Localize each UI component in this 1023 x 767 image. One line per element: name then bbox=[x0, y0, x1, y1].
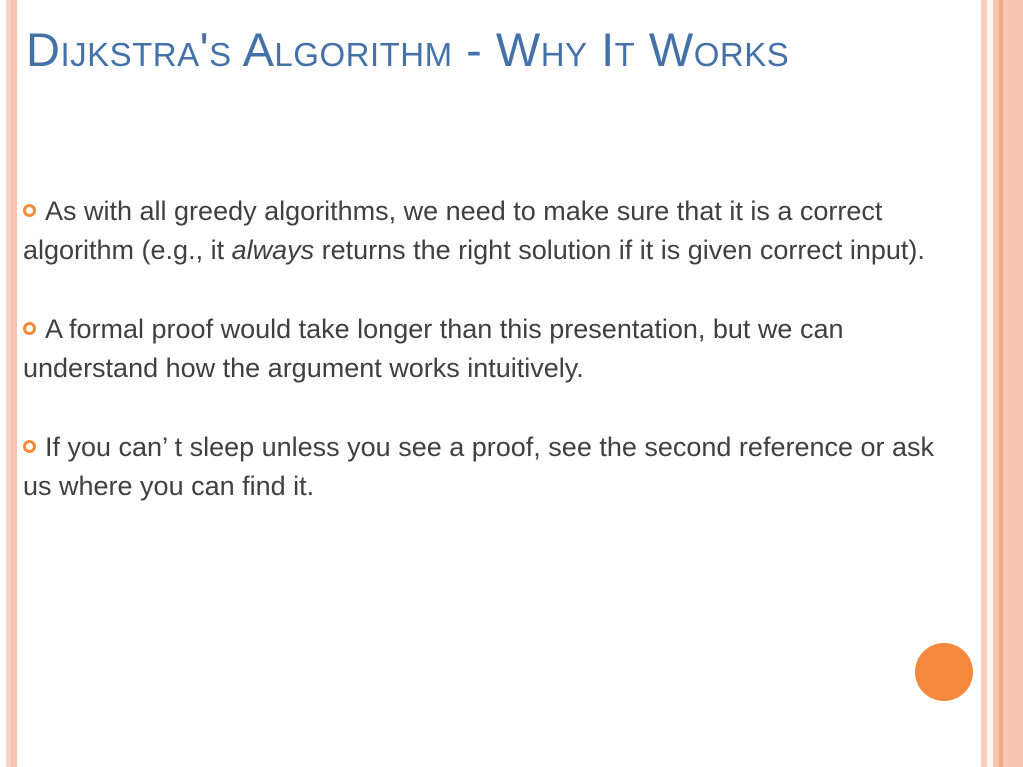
bullet-item: A formal proof would take longer than th… bbox=[23, 310, 968, 387]
bullet-item: If you can’ t sleep unless you see a pro… bbox=[23, 428, 968, 505]
slide-body: As with all greedy algorithms, we need t… bbox=[23, 192, 968, 505]
slide-title: Dijkstra's Algorithm - Why It Works bbox=[26, 22, 976, 78]
bullet-text-pre: A formal proof would take longer than th… bbox=[23, 314, 843, 383]
right-border-band-6 bbox=[1008, 0, 1023, 767]
presentation-slide: Dijkstra's Algorithm - Why It Works As w… bbox=[0, 0, 1023, 767]
bullet-item: As with all greedy algorithms, we need t… bbox=[23, 192, 968, 269]
orange-circle-decoration bbox=[915, 643, 973, 701]
bullet-text-pre: If you can’ t sleep unless you see a pro… bbox=[23, 432, 934, 501]
left-border-band-2 bbox=[11, 0, 17, 767]
bullet-text-post: returns the right solution if it is give… bbox=[314, 235, 925, 265]
bullet-ring-icon bbox=[23, 322, 36, 335]
bullet-ring-icon bbox=[23, 204, 36, 217]
bullet-ring-icon bbox=[23, 440, 36, 453]
bullet-text-emphasis: always bbox=[232, 235, 315, 265]
